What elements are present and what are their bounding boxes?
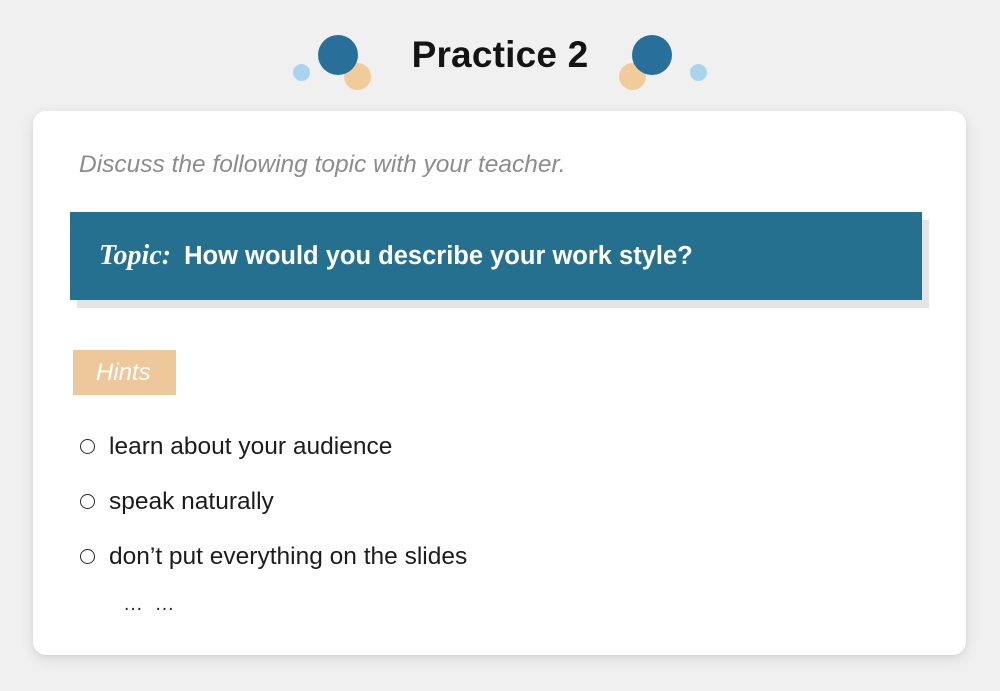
page-header: Practice 2 — [0, 0, 1000, 111]
hints-list: learn about your audience speak naturall… — [80, 419, 780, 616]
hints-badge: Hints — [73, 350, 176, 395]
list-item-label: learn about your audience — [109, 433, 392, 461]
circle-bullet-icon — [80, 549, 95, 564]
circle-bullet-icon — [80, 494, 95, 509]
topic-question: How would you describe your work style? — [184, 242, 693, 271]
topic-label: Topic: — [99, 240, 171, 272]
instruction-text: Discuss the following topic with your te… — [79, 151, 566, 179]
header-decoration-right — [602, 21, 712, 91]
circle-bullet-icon — [80, 439, 95, 454]
topic-banner-container: Topic: How would you describe your work … — [70, 212, 922, 300]
list-item-label: don’t put everything on the slides — [109, 543, 467, 571]
header-decoration-left — [288, 21, 398, 91]
page-title: Practice 2 — [398, 36, 603, 73]
light-blue-dot-icon — [690, 64, 707, 81]
hints-badge-label: Hints — [96, 359, 151, 387]
list-item: speak naturally — [80, 474, 780, 529]
topic-banner: Topic: How would you describe your work … — [70, 212, 922, 300]
list-item: don’t put everything on the slides — [80, 529, 780, 584]
list-item: learn about your audience — [80, 419, 780, 474]
dark-blue-dot-icon — [318, 35, 358, 75]
header-inner: Practice 2 — [0, 0, 1000, 111]
list-item-label: speak naturally — [109, 488, 274, 516]
light-blue-dot-icon — [293, 64, 310, 81]
content-card: Discuss the following topic with your te… — [33, 111, 966, 655]
dark-blue-dot-icon — [632, 35, 672, 75]
hints-ellipsis: … … — [123, 593, 780, 616]
